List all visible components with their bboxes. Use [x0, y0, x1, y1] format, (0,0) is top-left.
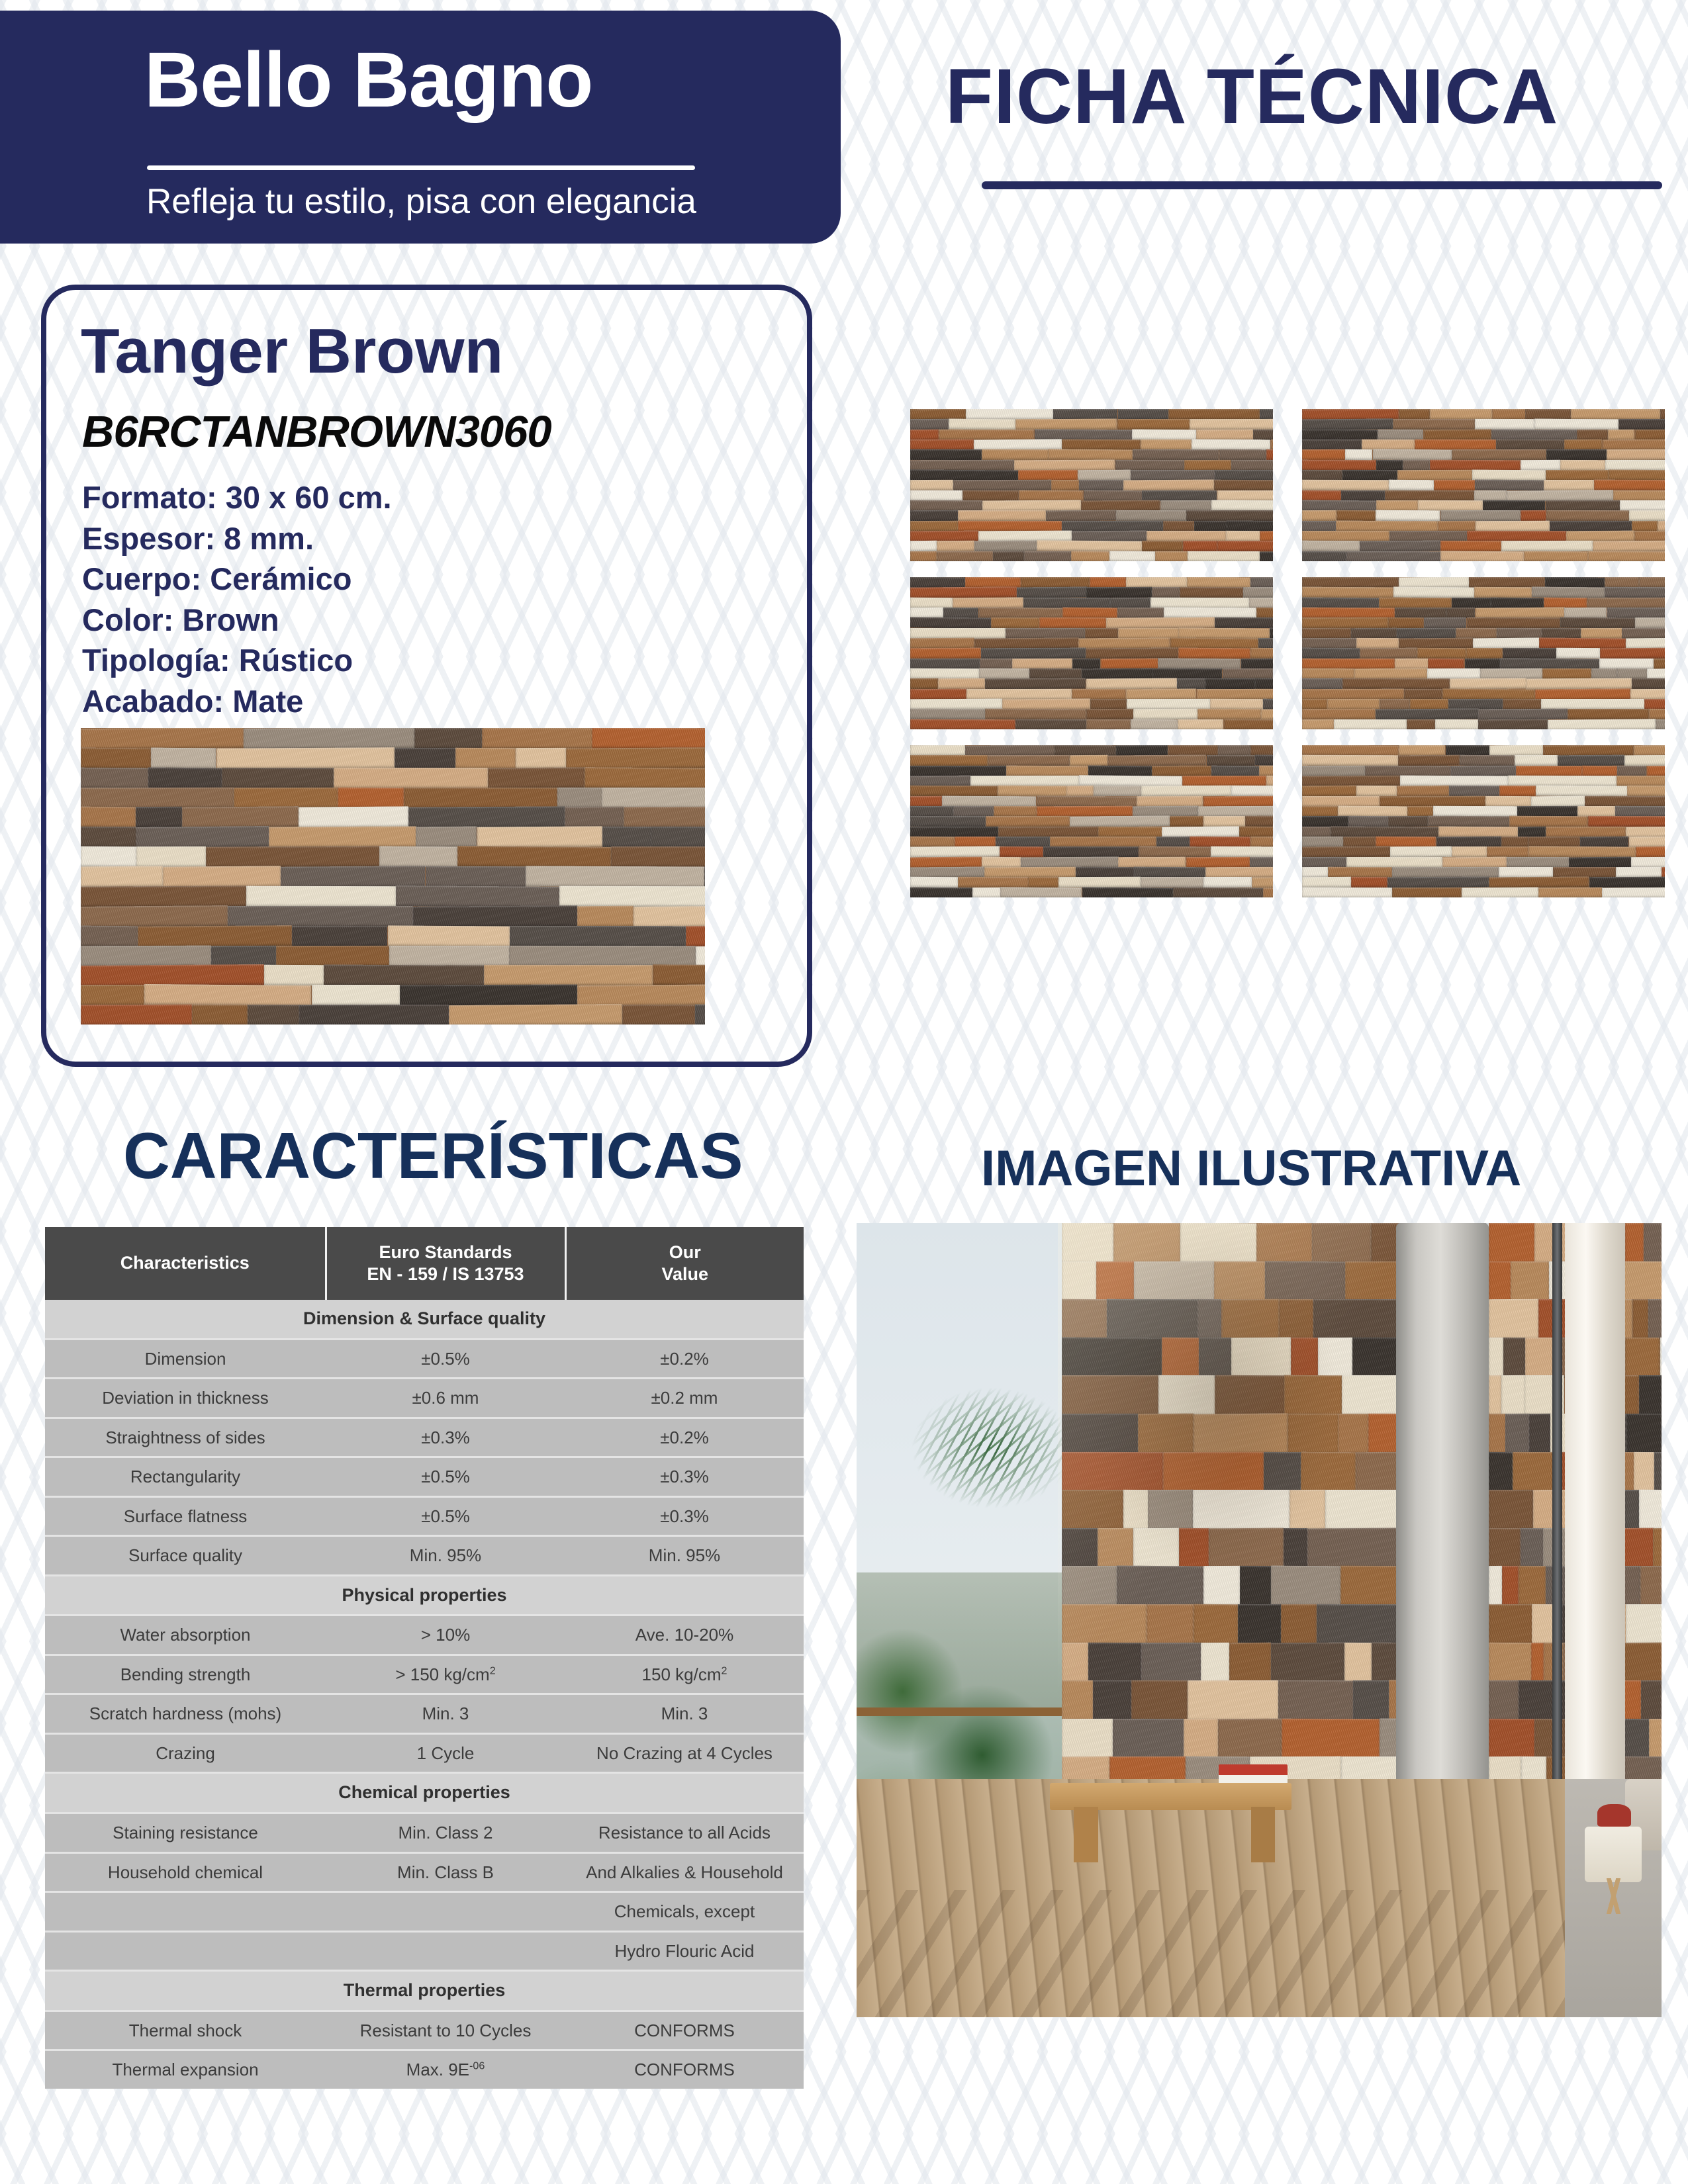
stone-brick — [958, 510, 1046, 521]
stone-brick — [1430, 409, 1492, 420]
stone-brick — [1110, 597, 1150, 608]
stone-brick — [1515, 755, 1558, 766]
stone-brick — [1442, 856, 1507, 868]
characteristics-table: Characteristics Euro Standards EN - 159 … — [45, 1227, 804, 2089]
stone-brick — [81, 866, 163, 887]
stone-row — [1302, 846, 1665, 857]
stone-row — [910, 598, 1273, 608]
stone-brick — [910, 678, 938, 689]
stone-brick — [910, 668, 979, 680]
stone-row — [910, 587, 1273, 598]
stone-brick — [1483, 500, 1545, 511]
stone-brick — [1466, 648, 1503, 659]
stone-brick — [1302, 688, 1404, 700]
stone-row — [910, 827, 1273, 837]
stone-brick — [1568, 709, 1649, 719]
stone-brick — [991, 617, 1039, 628]
stone-brick — [1302, 551, 1346, 561]
brand-divider — [147, 165, 695, 170]
stone-brick — [910, 648, 981, 659]
stone-brick — [1632, 521, 1658, 531]
stone-brick — [1649, 1719, 1662, 1759]
stone-brick — [1532, 587, 1605, 598]
stone-brick — [1435, 719, 1478, 729]
stone-brick — [81, 728, 244, 750]
stone-brick — [1188, 551, 1260, 561]
table-row: Household chemicalMin. Class BAnd Alkali… — [45, 1852, 804, 1892]
stone-brick — [1548, 719, 1656, 729]
stone-brick — [1360, 648, 1417, 659]
stone-brick — [510, 926, 686, 947]
stone-brick — [910, 806, 953, 817]
stone-brick — [1605, 577, 1639, 588]
stone-brick — [577, 984, 705, 1007]
cell-characteristic: Thermal expansion — [45, 2050, 326, 2089]
stone-brick — [1658, 520, 1665, 531]
stone-brick — [1256, 608, 1273, 619]
our-value-line1: Our — [571, 1242, 800, 1263]
stone-brick — [910, 521, 958, 531]
stone-brick — [1489, 1490, 1533, 1530]
stone-brick — [1107, 755, 1206, 766]
cell-characteristic: Surface flatness — [45, 1496, 326, 1536]
stone-brick — [982, 856, 1021, 868]
stone-brick — [1585, 796, 1665, 807]
stone-brick — [1487, 846, 1528, 857]
stone-brick — [1150, 597, 1249, 608]
stone-brick — [1462, 887, 1538, 897]
stone-brick — [1205, 867, 1273, 878]
stone-brick — [1302, 531, 1389, 541]
stone-brick — [1024, 551, 1071, 561]
euro-standards-line1: Euro Standards — [331, 1242, 561, 1263]
stone-brick — [1546, 827, 1626, 837]
stone-brick — [910, 551, 937, 561]
table-group-title: Chemical properties — [45, 1773, 804, 1813]
stone-brick — [526, 866, 704, 888]
stone-brick — [1148, 1490, 1193, 1530]
section-title-caracteristicas: CARACTERÍSTICAS — [123, 1118, 743, 1193]
stone-brick — [1475, 419, 1534, 430]
stone-brick — [970, 776, 1079, 786]
stone-brick — [910, 480, 953, 490]
stone-brick — [1302, 816, 1348, 827]
stone-brick — [222, 768, 334, 789]
scene-wood-deck — [857, 1779, 1565, 2017]
stone-row — [1302, 608, 1665, 618]
stone-brick — [1086, 678, 1177, 690]
stone-brick — [1062, 1604, 1147, 1645]
stone-brick — [413, 905, 577, 927]
stone-brick — [1106, 617, 1215, 629]
stone-row — [1302, 500, 1665, 511]
stone-brick — [1499, 786, 1536, 796]
cell-euro-standard: ±0.6 mm — [326, 1379, 565, 1418]
stone-row — [1062, 1528, 1400, 1569]
stone-brick — [565, 807, 624, 828]
stone-brick — [1641, 1680, 1662, 1721]
stone-brick — [1607, 449, 1665, 461]
cell-our-value: Resistance to all Acids — [565, 1813, 804, 1853]
cell-euro-standard — [326, 1892, 565, 1932]
brand-tagline: Refleja tu estilo, pisa con elegancia — [146, 181, 696, 222]
stone-brick — [1440, 541, 1501, 551]
stone-brick — [1489, 1604, 1532, 1645]
stone-brick — [1194, 1413, 1288, 1454]
stone-brick — [1489, 1680, 1519, 1721]
stone-brick — [1062, 1261, 1096, 1302]
our-value-line2: Value — [571, 1263, 800, 1285]
tile-swatch — [910, 745, 1273, 897]
stone-row — [81, 985, 705, 1005]
stone-brick — [1162, 1338, 1199, 1378]
stone-brick — [910, 510, 958, 522]
stone-brick — [1582, 765, 1617, 776]
table-row: Scratch hardness (mohs)Min. 3Min. 3 — [45, 1694, 804, 1734]
stone-brick — [1518, 826, 1546, 837]
stone-brick — [457, 846, 611, 868]
scene-curtain — [1565, 1223, 1625, 1811]
stone-brick — [1218, 1718, 1282, 1758]
stone-brick — [1302, 887, 1392, 897]
stone-brick — [338, 787, 404, 808]
stone-brick — [1550, 521, 1632, 531]
stone-brick — [1649, 709, 1665, 720]
stone-row — [1302, 409, 1665, 420]
stone-row — [1062, 1338, 1400, 1378]
stone-brick — [1521, 459, 1560, 471]
stone-brick — [1605, 460, 1665, 471]
scene-window-mullion — [1552, 1223, 1563, 1835]
stone-brick — [1086, 587, 1152, 598]
stone-brick — [1440, 510, 1521, 521]
stone-brick — [1625, 1338, 1660, 1378]
stone-brick — [1492, 409, 1526, 420]
stone-brick — [1241, 658, 1273, 669]
cell-our-value: CONFORMS — [565, 2050, 804, 2089]
stone-brick — [1133, 1528, 1179, 1569]
stone-brick — [1162, 826, 1239, 837]
stone-row — [910, 608, 1273, 618]
stone-brick — [1434, 480, 1475, 490]
stone-brick — [910, 449, 982, 460]
stone-brick — [1353, 1680, 1389, 1721]
stone-brick — [1117, 419, 1190, 430]
stone-brick — [1224, 719, 1273, 729]
stone-brick — [910, 577, 965, 588]
stone-brick — [1190, 419, 1273, 430]
stone-brick — [1546, 500, 1620, 511]
stone-row — [1062, 1566, 1400, 1606]
stone-brick — [455, 748, 516, 769]
stone-brick — [1058, 877, 1141, 888]
stone-brick — [1302, 659, 1395, 669]
stone-brick — [1214, 480, 1273, 491]
stone-brick — [1529, 1414, 1550, 1454]
stone-row — [1302, 439, 1665, 450]
stone-brick — [1634, 531, 1665, 541]
stone-row — [81, 748, 705, 768]
stone-brick — [1229, 1642, 1271, 1682]
stone-brick — [910, 541, 937, 552]
stone-row — [910, 755, 1273, 766]
stone-row — [1302, 490, 1665, 501]
table-row: Dimension±0.5%±0.2% — [45, 1339, 804, 1379]
stone-brick — [696, 945, 705, 967]
stone-brick — [1142, 541, 1183, 551]
stone-brick — [1250, 648, 1273, 659]
stone-brick — [1134, 1261, 1214, 1301]
stone-brick — [1062, 1680, 1093, 1721]
stone-brick — [1302, 857, 1346, 868]
stone-brick — [1302, 837, 1343, 847]
stone-row — [81, 728, 705, 749]
stone-brick — [1615, 806, 1665, 817]
stone-brick — [1365, 766, 1451, 776]
cell-characteristic — [45, 1892, 326, 1932]
cell-characteristic: Water absorption — [45, 1615, 326, 1655]
stone-brick — [1156, 837, 1190, 847]
stone-brick — [1424, 429, 1491, 440]
stone-brick — [1390, 846, 1452, 858]
stone-brick — [981, 648, 1086, 659]
stone-brick — [1192, 439, 1270, 451]
stone-brick — [1260, 551, 1273, 561]
stone-brick — [1542, 668, 1591, 679]
stone-brick — [1452, 846, 1487, 857]
stone-brick — [1509, 816, 1587, 827]
stone-row — [1302, 745, 1665, 756]
stone-brick — [1388, 617, 1424, 628]
stone-brick — [1428, 816, 1509, 827]
stone-brick — [966, 409, 1053, 420]
stone-brick — [136, 807, 182, 828]
stone-brick — [939, 430, 1034, 440]
stone-brick — [1182, 776, 1266, 786]
stone-brick — [1253, 430, 1273, 440]
stone-brick — [1152, 587, 1180, 598]
stone-brick — [974, 541, 1037, 552]
stone-brick — [910, 597, 953, 608]
stone-brick — [1078, 470, 1131, 481]
stone-brick — [426, 866, 526, 887]
stone-brick — [1608, 430, 1634, 440]
stone-row — [910, 521, 1273, 531]
cell-euro-standard: Min. Class 2 — [326, 1813, 565, 1853]
stone-brick — [1376, 460, 1403, 471]
stone-row — [910, 816, 1273, 827]
stone-brick — [962, 490, 1019, 501]
stone-brick — [910, 837, 955, 848]
stone-brick — [1380, 796, 1485, 807]
stone-brick — [1521, 1528, 1544, 1569]
table-row: Chemicals, except — [45, 1892, 804, 1932]
stone-row — [1302, 460, 1665, 471]
stone-row — [1302, 806, 1665, 817]
table-row: Surface qualityMin. 95%Min. 95% — [45, 1536, 804, 1576]
stone-brick — [1491, 429, 1577, 439]
stone-row — [910, 857, 1273, 868]
stone-brick — [1489, 745, 1543, 756]
stone-brick — [1376, 510, 1440, 522]
stone-brick — [943, 608, 978, 618]
stone-row — [910, 409, 1273, 420]
stone-brick — [312, 985, 400, 1006]
stone-brick — [1118, 627, 1179, 638]
stone-brick — [1252, 877, 1273, 888]
stone-brick — [1302, 709, 1376, 720]
stone-brick — [1505, 1414, 1529, 1454]
stone-brick — [1632, 1299, 1648, 1340]
stone-brick — [1183, 541, 1217, 551]
stone-brick — [1245, 816, 1273, 827]
stone-brick — [1062, 1719, 1113, 1759]
stone-row — [910, 776, 1273, 786]
stone-brick — [695, 1005, 705, 1024]
stone-brick — [396, 886, 559, 907]
stone-brick — [1485, 796, 1531, 807]
stone-brick — [1617, 776, 1665, 786]
stone-brick — [1062, 1566, 1117, 1606]
stone-row — [81, 788, 705, 808]
stone-brick — [1070, 755, 1108, 766]
stone-brick — [1397, 786, 1449, 797]
stone-brick — [1474, 490, 1507, 501]
stone-brick — [1238, 1604, 1281, 1645]
stone-brick — [477, 827, 602, 848]
stone-brick — [966, 688, 1072, 699]
stone-row — [1302, 877, 1665, 887]
scene-concrete-column — [1396, 1223, 1489, 1827]
stone-brick — [1090, 699, 1127, 709]
stone-row — [910, 500, 1273, 511]
stone-brick — [1015, 719, 1086, 729]
stone-brick — [1635, 429, 1665, 439]
stone-brick — [979, 668, 1029, 680]
stone-brick — [1489, 1719, 1535, 1759]
stone-brick — [1250, 837, 1273, 847]
stone-brick — [1404, 689, 1442, 700]
stone-brick — [1639, 1375, 1662, 1416]
stone-brick — [192, 1005, 248, 1024]
stone-brick — [81, 925, 138, 946]
stone-brick — [1569, 856, 1631, 868]
stone-brick — [557, 788, 602, 809]
stone-row — [81, 946, 705, 966]
stone-brick — [1289, 1490, 1325, 1530]
stone-brick — [1626, 826, 1665, 837]
stone-row — [1062, 1490, 1400, 1530]
cell-euro-standard: 1 Cycle — [326, 1733, 565, 1773]
stone-brick — [1302, 617, 1388, 629]
stone-row — [1302, 659, 1665, 669]
cell-euro-standard: Resistant to 10 Cycles — [326, 2011, 565, 2050]
stone-brick — [136, 846, 206, 868]
table-row: Bending strength> 150 kg/cm2150 kg/cm2 — [45, 1655, 804, 1694]
stone-brick — [1199, 1338, 1232, 1378]
stone-brick — [1066, 786, 1094, 796]
table-group-row: Thermal properties — [45, 1971, 804, 2011]
stone-brick — [1440, 551, 1524, 561]
stone-brick — [1560, 460, 1605, 471]
stone-brick — [81, 747, 151, 768]
stone-brick — [1499, 867, 1553, 878]
stone-brick — [334, 768, 488, 789]
stone-row — [1062, 1223, 1400, 1263]
stone-brick — [651, 827, 705, 848]
stone-brick — [1544, 480, 1594, 490]
stone-row — [910, 617, 1273, 628]
stone-brick — [910, 766, 1006, 776]
stone-row — [910, 480, 1273, 490]
stone-brick — [1209, 1527, 1284, 1568]
stone-brick — [1118, 856, 1186, 868]
stone-row — [1062, 1452, 1400, 1492]
table-header-characteristics: Characteristics — [45, 1227, 326, 1300]
stone-brick — [1051, 480, 1079, 490]
stone-brick — [1456, 627, 1497, 638]
cell-euro-standard: ±0.5% — [326, 1339, 565, 1379]
stone-brick — [1147, 531, 1226, 541]
stone-row — [1302, 521, 1665, 531]
stone-row — [1062, 1719, 1400, 1759]
stone-row — [910, 699, 1273, 709]
stone-brick — [1256, 1223, 1312, 1263]
stone-brick — [81, 846, 136, 868]
stone-brick — [1618, 419, 1665, 430]
page-title-underline — [982, 181, 1662, 189]
stone-brick — [559, 886, 705, 907]
stone-brick — [1271, 439, 1273, 450]
stone-brick — [81, 807, 136, 828]
stone-row — [910, 709, 1273, 719]
cell-euro-standard: Min. 3 — [326, 1694, 565, 1734]
stone-brick — [1581, 628, 1622, 639]
stone-brick — [182, 807, 299, 829]
stone-brick — [1395, 659, 1429, 669]
stone-brick — [1062, 608, 1117, 619]
stone-row — [910, 846, 1273, 857]
stone-brick — [299, 807, 408, 829]
stone-brick — [1500, 658, 1599, 669]
stone-brick — [1577, 806, 1615, 817]
stone-brick — [1123, 1490, 1149, 1530]
table-group-title: Thermal properties — [45, 1971, 804, 2011]
stone-row — [910, 837, 1273, 847]
stone-brick — [1141, 786, 1231, 797]
stone-brick — [81, 1005, 192, 1024]
stone-brick — [1086, 719, 1131, 729]
cell-our-value: Min. 3 — [565, 1694, 804, 1734]
stone-brick — [1188, 1680, 1278, 1721]
stone-brick — [937, 541, 974, 552]
stone-brick — [958, 521, 1062, 531]
stone-row — [910, 689, 1273, 700]
stone-brick — [1617, 766, 1646, 776]
stone-brick — [1501, 837, 1528, 847]
stone-brick — [910, 887, 972, 897]
stone-brick — [228, 906, 413, 927]
table-group-row: Chemical properties — [45, 1773, 804, 1813]
stone-brick — [1302, 867, 1328, 878]
stone-brick — [1636, 846, 1665, 858]
tile-swatch — [910, 577, 1273, 729]
stone-brick — [1531, 796, 1585, 807]
stone-brick — [1631, 856, 1665, 868]
stone-brick — [1398, 755, 1460, 766]
stone-brick — [1090, 577, 1126, 588]
stone-row — [1062, 1414, 1400, 1454]
